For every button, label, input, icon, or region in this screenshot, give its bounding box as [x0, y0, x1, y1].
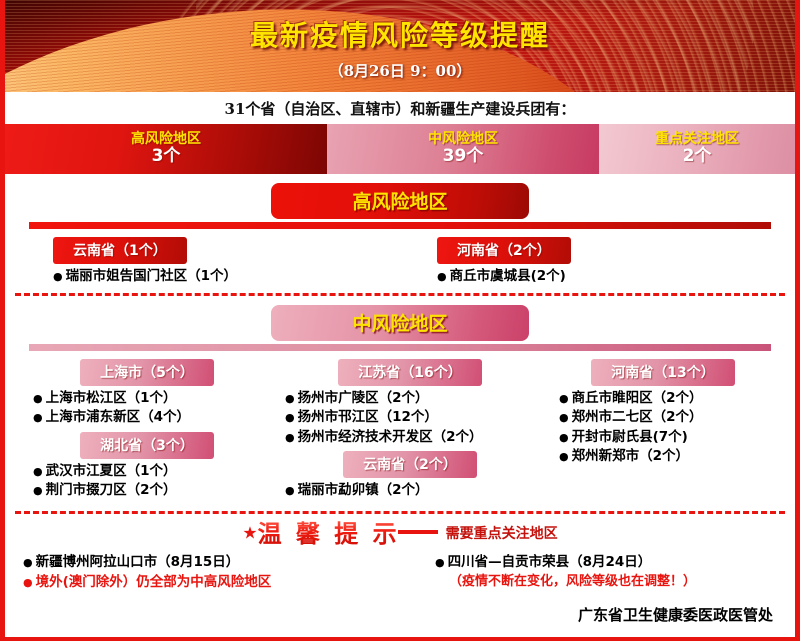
list-item: ●郑州新郑市（2个）	[559, 447, 795, 467]
bullet-dot-red-icon: ●	[23, 576, 33, 589]
stat-high-risk[interactable]: 高风险地区 3个	[5, 124, 327, 174]
area-list-henan-mid: ●商丘市睢阳区（2个） ●郑州市二七区（2个） ●开封市尉氏县(7个) ●郑州新…	[559, 389, 795, 467]
tip-item-sichuan: ●四川省—自贡市荣县（8月24日）	[435, 552, 795, 572]
bullet-dot-icon: ●	[285, 431, 295, 444]
page-title: 最新疫情风险等级提醒	[5, 14, 795, 54]
list-item: ●扬州市经济技术开发区（2个）	[285, 428, 545, 448]
province-group-yunnan-mid: 云南省（2个）	[285, 451, 535, 478]
risk-summary-bar: 高风险地区 3个 中风险地区 39个 重点关注地区 2个	[5, 124, 795, 174]
area-name: 上海市浦东新区（4个）	[46, 409, 190, 425]
bullet-dot-icon: ●	[23, 556, 33, 569]
mid-risk-banner-wrap: 中风险地区	[5, 296, 795, 341]
list-item: ●扬州市邗江区（12个）	[285, 408, 545, 428]
area-list-shanghai: ●上海市松江区（1个） ●上海市浦东新区（4个）	[33, 389, 285, 428]
mid-risk-columns: 上海市（5个） ●上海市松江区（1个） ●上海市浦东新区（4个） 湖北省（3个）…	[5, 351, 795, 501]
stat-watch-areas[interactable]: 重点关注地区 2个	[599, 124, 795, 174]
list-item: ●商丘市睢阳区（2个）	[559, 389, 795, 409]
high-risk-banner: 高风险地区	[271, 183, 529, 219]
mid-risk-col-1: 上海市（5个） ●上海市松江区（1个） ●上海市浦东新区（4个） 湖北省（3个）…	[5, 359, 285, 501]
province-label-yunnan-high[interactable]: 云南省（1个）	[53, 237, 187, 264]
high-risk-section: 高风险地区 云南省（1个） ●瑞丽市姐告国门社区（1个） 河南省（2个） ●商丘…	[5, 174, 795, 287]
list-item: ●扬州市广陵区（2个）	[285, 389, 545, 409]
list-item: ●商丘市虞城县(2个)	[437, 267, 795, 287]
high-risk-col-2: 河南省（2个） ●商丘市虞城县(2个)	[405, 237, 795, 287]
province-group-shanghai: 上海市（5个）	[33, 359, 261, 386]
bullet-dot-icon: ●	[285, 392, 295, 405]
bullet-dot-icon: ●	[33, 465, 43, 478]
area-list-yunnan-high: ●瑞丽市姐告国门社区（1个）	[53, 267, 405, 287]
bullet-dot-icon: ●	[33, 411, 43, 424]
area-name: 武汉市江夏区（1个）	[46, 463, 177, 479]
lead-statement: 31个省（自治区、直辖市）和新疆生产建设兵团有：	[5, 92, 795, 124]
tips-note: （疫情不断在变化，风险等级也在调整！）	[435, 572, 795, 592]
area-list-henan-high: ●商丘市虞城县(2个)	[437, 267, 795, 287]
list-item: ●武汉市江夏区（1个）	[33, 462, 285, 482]
tip-text: 四川省—自贡市荣县（8月24日）	[448, 554, 652, 570]
province-label-henan-mid[interactable]: 河南省（13个）	[591, 359, 734, 386]
mid-risk-banner: 中风险地区	[271, 305, 529, 341]
tip-item-xinjiang: ●新疆博州阿拉山口市（8月15日）	[23, 552, 435, 572]
area-name: 商丘市虞城县(2个)	[450, 268, 566, 284]
tips-title: 温 馨 提 示	[258, 519, 400, 548]
tips-header: ★温 馨 提 示需要重点关注地区	[5, 522, 795, 546]
high-risk-col-1: 云南省（1个） ●瑞丽市姐告国门社区（1个）	[5, 237, 405, 287]
bullet-dot-icon: ●	[285, 411, 295, 424]
area-name: 扬州市广陵区（2个）	[298, 390, 429, 406]
tip-item-overseas: ●境外(澳门除外）仍全部为中高风险地区	[23, 572, 435, 592]
bullet-dot-icon: ●	[559, 431, 569, 444]
list-item: ●上海市浦东新区（4个）	[33, 408, 285, 428]
area-name: 扬州市邗江区（12个）	[298, 409, 438, 425]
bullet-dot-icon: ●	[437, 270, 447, 283]
header-text-group: 最新疫情风险等级提醒 （8月26日 9：00）	[5, 0, 795, 81]
high-risk-banner-wrap: 高风险地区	[5, 174, 795, 219]
list-item: ●郑州市二七区（2个）	[559, 408, 795, 428]
province-group-jiangsu: 江苏省（16个）	[285, 359, 535, 386]
province-group-henan-mid: 河南省（13个）	[559, 359, 767, 386]
stat-high-risk-count: 3个	[152, 147, 181, 165]
bullet-dot-icon: ●	[53, 270, 63, 283]
tip-text: 境外(澳门除外）仍全部为中高风险地区	[36, 574, 272, 590]
header-timestamp: （8月26日 9：00）	[5, 60, 795, 81]
issuer-signature: 广东省卫生健康委医政医管处	[5, 592, 795, 625]
area-name: 上海市松江区（1个）	[46, 390, 177, 406]
list-item: ●开封市尉氏县(7个)	[559, 428, 795, 448]
star-icon: ★	[242, 523, 257, 543]
stat-watch-areas-count: 2个	[683, 147, 712, 165]
tips-col-left: ●新疆博州阿拉山口市（8月15日） ●境外(澳门除外）仍全部为中高风险地区	[5, 552, 435, 593]
bullet-dot-icon: ●	[285, 484, 295, 497]
bullet-dot-icon: ●	[559, 411, 569, 424]
mid-risk-col-2: 江苏省（16个） ●扬州市广陵区（2个） ●扬州市邗江区（12个） ●扬州市经济…	[285, 359, 545, 501]
list-item: ●荆门市掇刀区（2个）	[33, 481, 285, 501]
bullet-dot-icon: ●	[559, 392, 569, 405]
area-name: 郑州市二七区（2个）	[572, 409, 703, 425]
tips-section: ★温 馨 提 示需要重点关注地区 ●新疆博州阿拉山口市（8月15日） ●境外(澳…	[5, 514, 795, 626]
mid-risk-rule	[29, 344, 771, 351]
province-group-hubei: 湖北省（3个）	[33, 432, 261, 459]
area-list-hubei: ●武汉市江夏区（1个） ●荆门市掇刀区（2个）	[33, 462, 285, 501]
area-name: 开封市尉氏县(7个)	[572, 429, 688, 445]
mid-risk-section: 中风险地区 上海市（5个） ●上海市松江区（1个） ●上海市浦东新区（4个） 湖…	[5, 296, 795, 501]
list-item: ●上海市松江区（1个）	[33, 389, 285, 409]
tips-columns: ●新疆博州阿拉山口市（8月15日） ●境外(澳门除外）仍全部为中高风险地区 ●四…	[5, 546, 795, 593]
area-name: 瑞丽市勐卯镇（2个）	[298, 482, 429, 498]
tips-col-right: ●四川省—自贡市荣县（8月24日） （疫情不断在变化，风险等级也在调整！）	[435, 552, 795, 593]
bullet-dot-icon: ●	[559, 450, 569, 463]
list-item: ●瑞丽市姐告国门社区（1个）	[53, 267, 405, 287]
tips-subtitle: 需要重点关注地区	[446, 526, 558, 542]
bullet-dot-icon: ●	[435, 556, 445, 569]
province-label-hubei[interactable]: 湖北省（3个）	[80, 432, 214, 459]
province-label-yunnan-mid[interactable]: 云南省（2个）	[343, 451, 477, 478]
area-list-jiangsu: ●扬州市广陵区（2个） ●扬州市邗江区（12个） ●扬州市经济技术开发区（2个）	[285, 389, 545, 448]
area-name: 荆门市掇刀区（2个）	[46, 482, 177, 498]
stat-mid-risk-count: 39个	[443, 147, 484, 165]
bullet-dot-icon: ●	[33, 392, 43, 405]
area-name: 商丘市睢阳区（2个）	[572, 390, 703, 406]
mid-risk-col-3: 河南省（13个） ●商丘市睢阳区（2个） ●郑州市二七区（2个） ●开封市尉氏县…	[545, 359, 795, 501]
province-label-shanghai[interactable]: 上海市（5个）	[80, 359, 214, 386]
bullet-dot-icon: ●	[33, 484, 43, 497]
stat-mid-risk[interactable]: 中风险地区 39个	[327, 124, 599, 174]
area-name: 扬州市经济技术开发区（2个）	[298, 429, 483, 445]
province-label-jiangsu[interactable]: 江苏省（16个）	[338, 359, 481, 386]
area-name: 瑞丽市姐告国门社区（1个）	[66, 268, 237, 284]
list-item: ●瑞丽市勐卯镇（2个）	[285, 481, 545, 501]
poster-root: 最新疫情风险等级提醒 （8月26日 9：00） 31个省（自治区、直辖市）和新疆…	[0, 0, 800, 641]
tip-text: 新疆博州阿拉山口市（8月15日）	[36, 554, 240, 570]
poster-header: 最新疫情风险等级提醒 （8月26日 9：00）	[5, 0, 795, 92]
area-list-yunnan-mid: ●瑞丽市勐卯镇（2个）	[285, 481, 545, 501]
province-label-henan-high[interactable]: 河南省（2个）	[437, 237, 571, 264]
tips-dash-rule	[398, 530, 438, 534]
high-risk-rule	[29, 222, 771, 229]
high-risk-columns: 云南省（1个） ●瑞丽市姐告国门社区（1个） 河南省（2个） ●商丘市虞城县(2…	[5, 229, 795, 287]
area-name: 郑州新郑市（2个）	[572, 448, 689, 464]
